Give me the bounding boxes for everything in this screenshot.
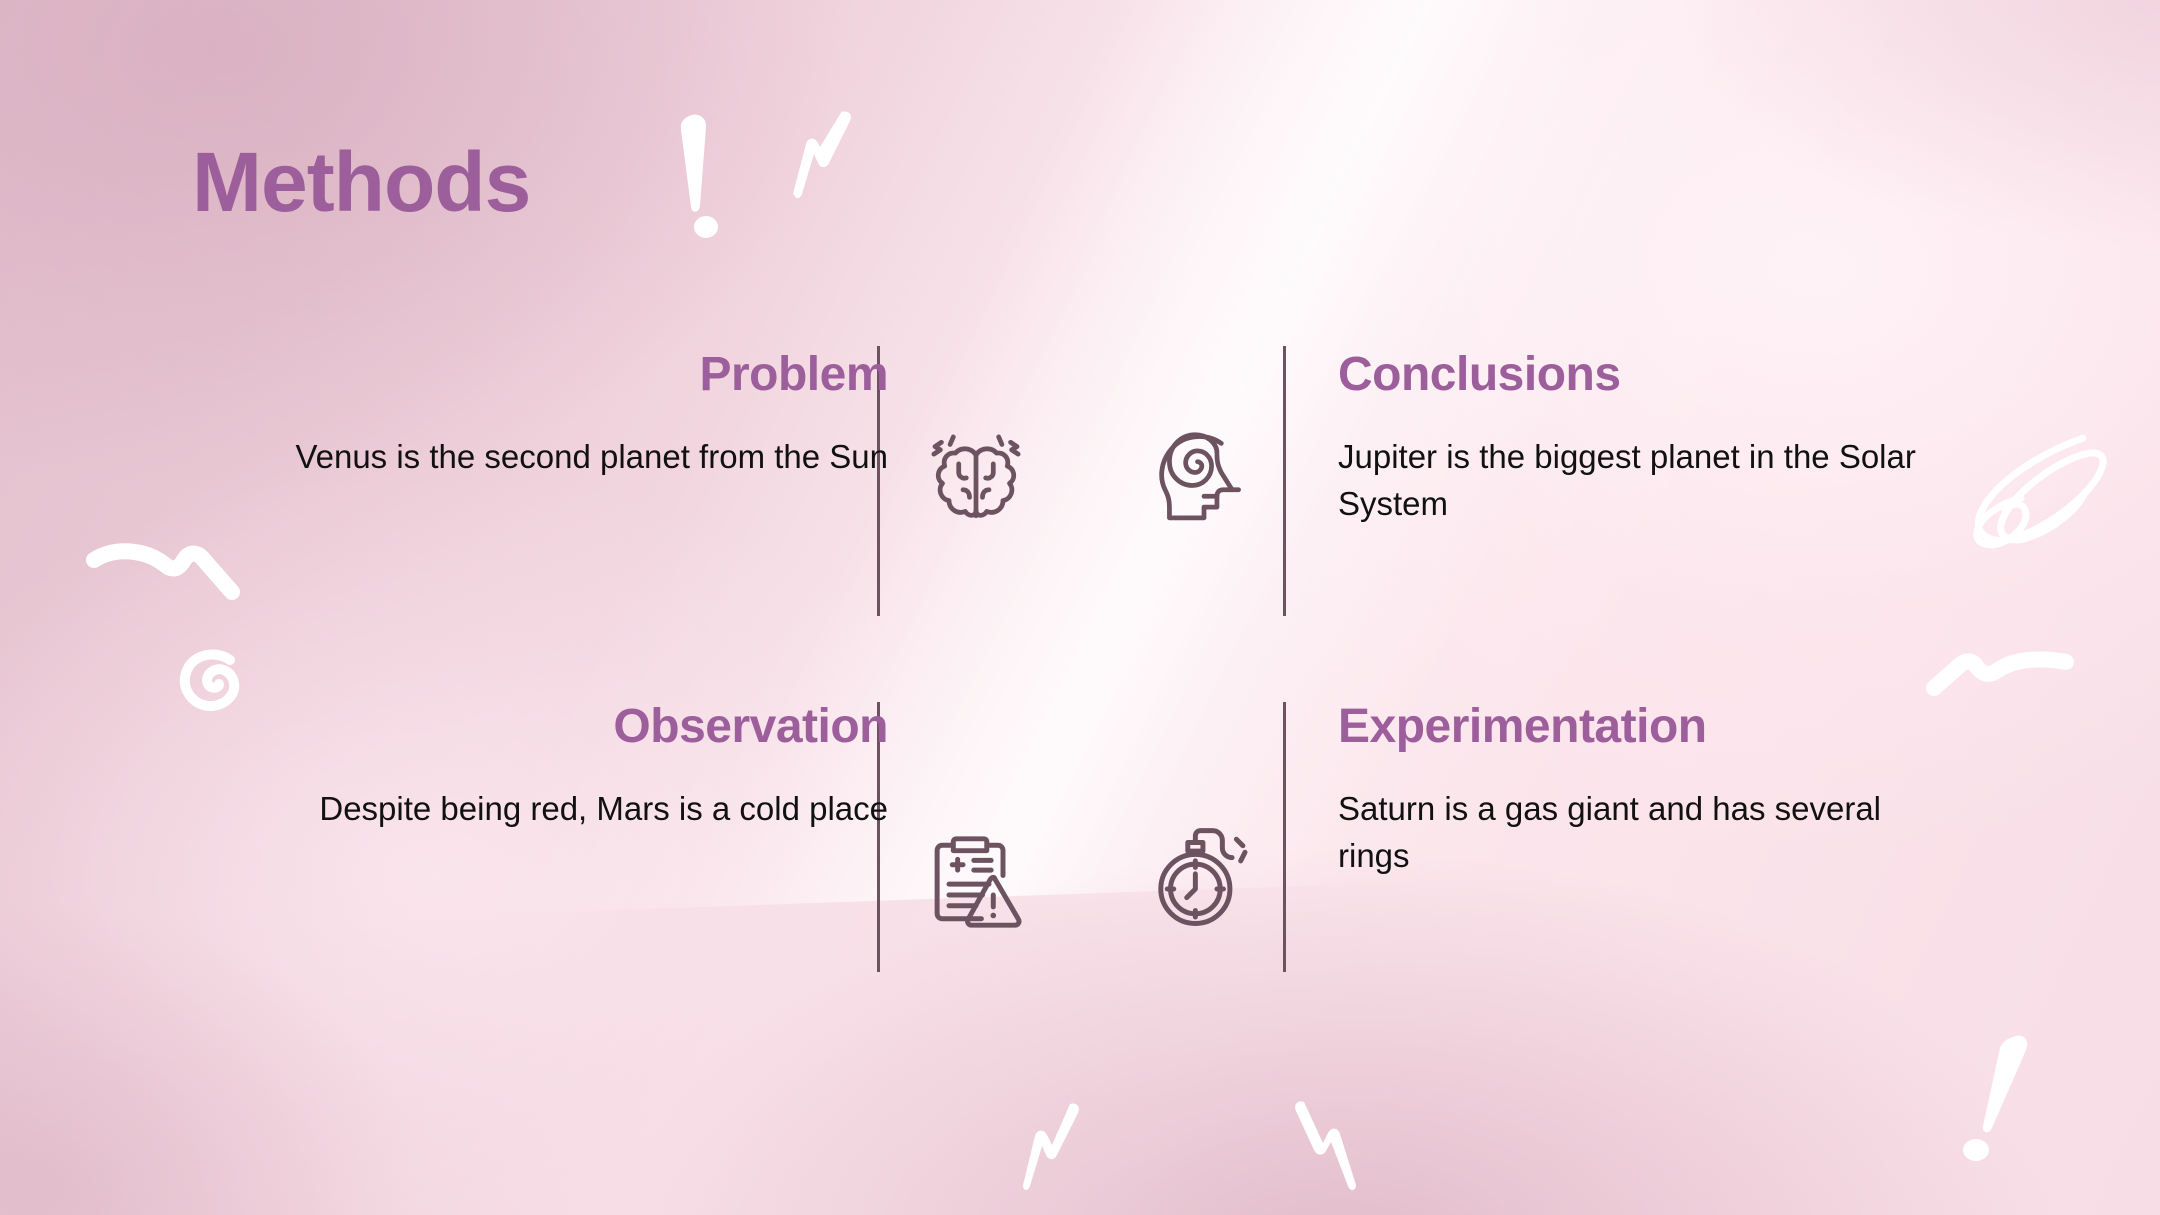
- lightning-bolt-doodle-bottom-left: [1022, 1100, 1092, 1215]
- quadrant-problem: Problem Venus is the second planet from …: [288, 350, 888, 481]
- exclamation-mark-doodle-bottom-right: [1962, 1028, 2032, 1163]
- quadrant-problem-body: Venus is the second planet from the Sun: [288, 434, 888, 481]
- page-title: Methods: [192, 134, 530, 231]
- head-spiral-icon: [1150, 425, 1258, 533]
- quadrant-observation-heading: Observation: [288, 702, 888, 752]
- divider-right-bottom: [1283, 702, 1286, 972]
- quadrant-observation: Observation Despite being red, Mars is a…: [288, 702, 888, 833]
- lightning-bolt-doodle-bottom-center: [1290, 1098, 1365, 1215]
- quadrant-problem-heading: Problem: [288, 350, 888, 400]
- divider-right-top: [1283, 346, 1286, 616]
- lightning-bolt-doodle-top: [790, 108, 860, 228]
- quadrant-experimentation-heading: Experimentation: [1338, 702, 1938, 752]
- quadrant-experimentation: Experimentation Saturn is a gas giant an…: [1338, 702, 1938, 880]
- methods-grid: Problem Venus is the second planet from …: [0, 330, 2160, 1030]
- quadrant-experimentation-body: Saturn is a gas giant and has several ri…: [1338, 786, 1938, 880]
- time-bomb-icon: [1150, 822, 1258, 930]
- clipboard-warning-icon: [922, 828, 1030, 936]
- quadrant-conclusions-body: Jupiter is the biggest planet in the Sol…: [1338, 434, 1938, 528]
- quadrant-observation-body: Despite being red, Mars is a cold place: [288, 786, 888, 833]
- exclamation-mark-doodle-top: [675, 108, 745, 238]
- quadrant-conclusions-heading: Conclusions: [1338, 350, 1938, 400]
- quadrant-conclusions: Conclusions Jupiter is the biggest plane…: [1338, 350, 1938, 528]
- slide-canvas: Methods Problem Venus is the second plan…: [0, 0, 2160, 1215]
- brain-icon: [922, 425, 1030, 533]
